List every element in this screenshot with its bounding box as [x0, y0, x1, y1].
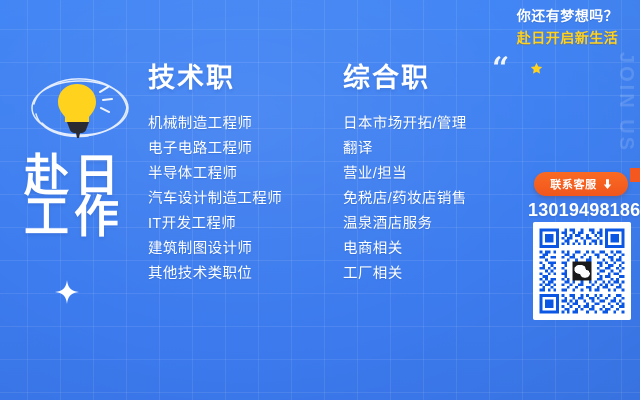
lightbulb-icon	[54, 78, 114, 138]
qr-code-image	[537, 226, 627, 316]
column-general: 综合职 日本市场开拓/管理 翻译 营业/担当 免税店/药妆店销售 温泉酒店服务 …	[343, 62, 538, 287]
arrow-down-icon	[603, 179, 612, 190]
list-item: 半导体工程师	[148, 162, 333, 187]
list-item: 建筑制图设计师	[148, 237, 333, 262]
headline-line-1: 你还有梦想吗？	[505, 6, 630, 26]
list-item: 免税店/药妆店销售	[343, 187, 538, 212]
list-item: 日本市场开拓/管理	[343, 112, 538, 137]
list-item: 电商相关	[343, 237, 538, 262]
sparkle-icon	[55, 280, 79, 304]
brand-title-line-2: 工作	[18, 193, 142, 240]
brand-block: 赴日 工作	[18, 66, 142, 240]
list-item: 翻译	[343, 137, 538, 162]
column-technical-heading: 技术职	[148, 62, 333, 94]
list-item: 营业/担当	[343, 162, 538, 187]
list-item: IT开发工程师	[148, 212, 333, 237]
contact-support-button[interactable]: 联系客服	[534, 172, 628, 196]
contact-support-label: 联系客服	[550, 176, 596, 192]
column-general-heading: 综合职	[343, 62, 538, 94]
list-item: 温泉酒店服务	[343, 212, 538, 237]
lightbulb-badge	[22, 66, 138, 148]
vertical-join-us-text: JOIN US	[614, 52, 637, 153]
list-item: 机械制造工程师	[148, 112, 333, 137]
list-item: 其他技术类职位	[148, 262, 333, 287]
column-technical-list: 机械制造工程师 电子电路工程师 半导体工程师 汽车设计制造工程师 IT开发工程师…	[148, 112, 333, 287]
orange-edge-tab	[630, 168, 640, 182]
list-item: 电子电路工程师	[148, 137, 333, 162]
list-item: 工厂相关	[343, 262, 538, 287]
wechat-qr-code[interactable]	[533, 222, 631, 320]
column-general-list: 日本市场开拓/管理 翻译 营业/担当 免税店/药妆店销售 温泉酒店服务 电商相关…	[343, 112, 538, 287]
poster-canvas: JOIN US 你还有梦想吗？ 赴日开启新生活 “	[0, 0, 640, 400]
column-technical: 技术职 机械制造工程师 电子电路工程师 半导体工程师 汽车设计制造工程师 IT开…	[148, 62, 333, 287]
headline-block: 你还有梦想吗？ 赴日开启新生活	[505, 6, 630, 48]
contact-phone-number: 13019498186	[528, 200, 636, 221]
list-item: 汽车设计制造工程师	[148, 187, 333, 212]
headline-line-2: 赴日开启新生活	[517, 29, 619, 48]
